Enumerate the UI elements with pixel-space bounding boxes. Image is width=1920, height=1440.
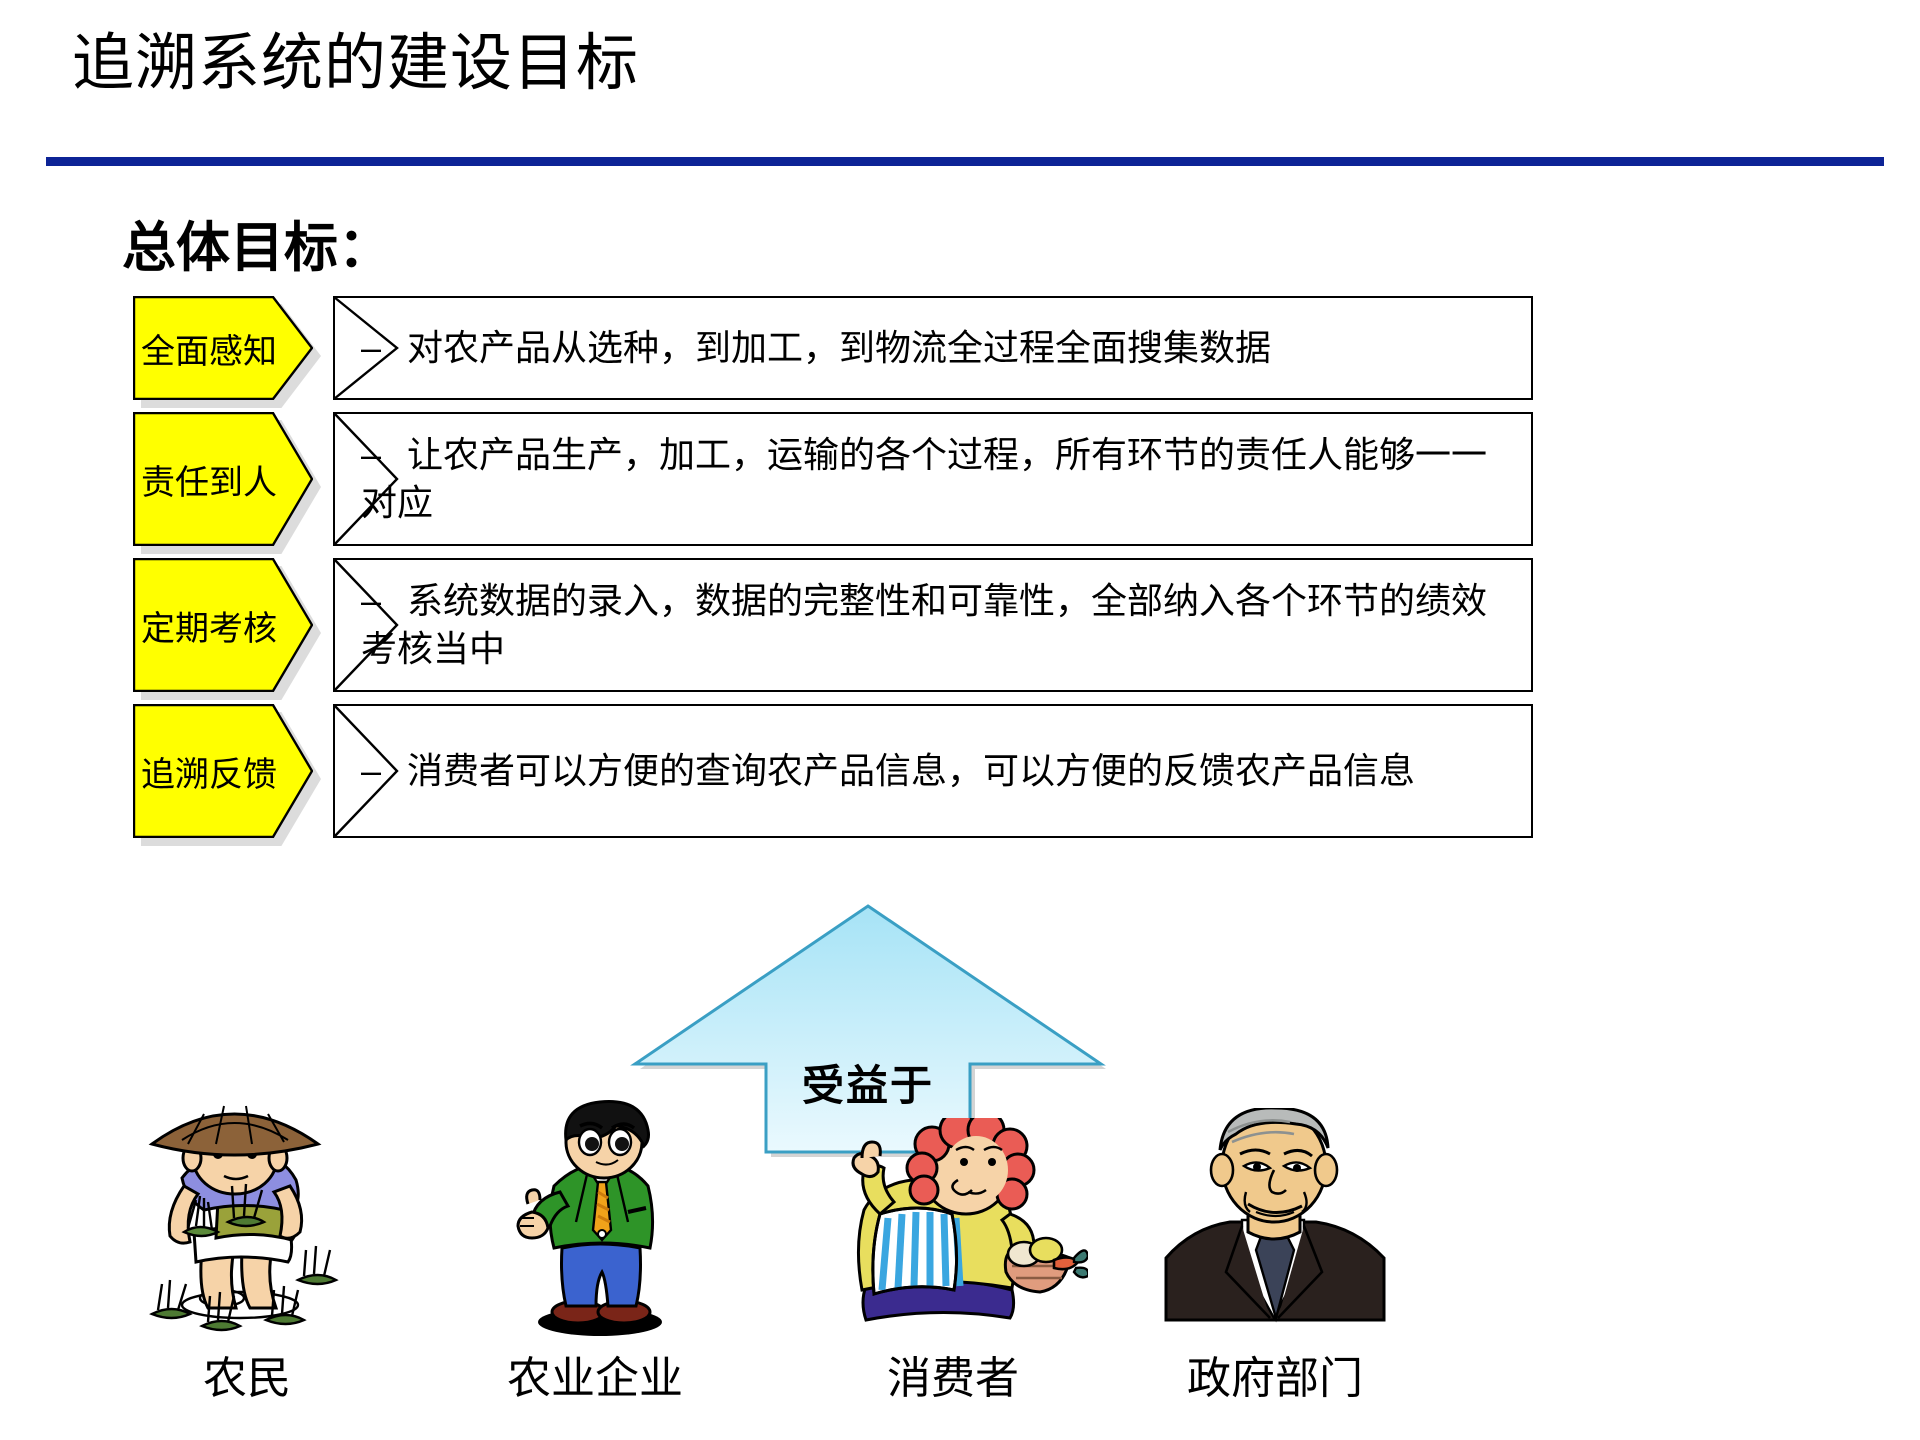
farmer-illustration xyxy=(122,1100,372,1340)
goal-row: 定期考核 –系统数据的录入，数据的完整性和可靠性，全部纳入各个环节的绩效考核当中 xyxy=(133,558,1533,692)
goal-body: 系统数据的录入，数据的完整性和可靠性，全部纳入各个环节的绩效考核当中 xyxy=(361,580,1487,669)
goal-bullet: – xyxy=(361,431,407,479)
goal-tag-label: 追溯反馈 xyxy=(133,704,285,838)
beneficiary-label: 农民 xyxy=(122,1342,372,1406)
goal-body: 消费者可以方便的查询农产品信息，可以方便的反馈农产品信息 xyxy=(407,750,1415,791)
consumer-illustration xyxy=(818,1118,1088,1340)
goal-row: 追溯反馈 –消费者可以方便的查询农产品信息，可以方便的反馈农产品信息 xyxy=(133,704,1533,838)
goal-tag-label: 全面感知 xyxy=(133,296,285,400)
goal-bullet: – xyxy=(361,324,407,372)
businessman-illustration xyxy=(470,1100,720,1340)
goal-bullet: – xyxy=(361,577,407,625)
goal-text: –对农产品从选种，到加工，到物流全过程全面搜集数据 xyxy=(361,296,1533,400)
goal-text: –消费者可以方便的查询农产品信息，可以方便的反馈农产品信息 xyxy=(361,704,1533,838)
goal-body: 对农产品从选种，到加工，到物流全过程全面搜集数据 xyxy=(407,327,1271,368)
beneficiary-consumer: 消费者 xyxy=(818,1118,1088,1406)
slide-canvas: 追溯系统的建设目标 总体目标： 全面感知 –对农产品从选种，到加工，到物流全过程… xyxy=(0,0,1920,1440)
beneficiary-label: 政府部门 xyxy=(1150,1342,1400,1406)
goals-list: 全面感知 –对农产品从选种，到加工，到物流全过程全面搜集数据 责任到人 –让农产… xyxy=(133,296,1533,838)
goal-tag-label: 定期考核 xyxy=(133,558,285,692)
government-official-illustration xyxy=(1150,1108,1400,1340)
beneficiary-government: 政府部门 xyxy=(1150,1108,1400,1406)
goal-tag-label: 责任到人 xyxy=(133,412,285,546)
beneficiary-farmer: 农民 xyxy=(122,1100,372,1406)
goal-row: 责任到人 –让农产品生产，加工，运输的各个过程，所有环节的责任人能够一一对应 xyxy=(133,412,1533,546)
goal-text: –系统数据的录入，数据的完整性和可靠性，全部纳入各个环节的绩效考核当中 xyxy=(361,558,1533,692)
beneficiary-label: 消费者 xyxy=(818,1342,1088,1406)
section-heading: 总体目标： xyxy=(122,203,392,282)
goal-bullet: – xyxy=(361,747,407,795)
beneficiary-company: 农业企业 xyxy=(470,1100,720,1406)
goal-row: 全面感知 –对农产品从选种，到加工，到物流全过程全面搜集数据 xyxy=(133,296,1533,400)
goal-body: 让农产品生产，加工，运输的各个过程，所有环节的责任人能够一一对应 xyxy=(361,434,1487,523)
page-title: 追溯系统的建设目标 xyxy=(72,28,639,99)
goal-text: –让农产品生产，加工，运输的各个过程，所有环节的责任人能够一一对应 xyxy=(361,412,1533,546)
beneficiary-label: 农业企业 xyxy=(470,1342,720,1406)
title-divider xyxy=(46,157,1884,166)
